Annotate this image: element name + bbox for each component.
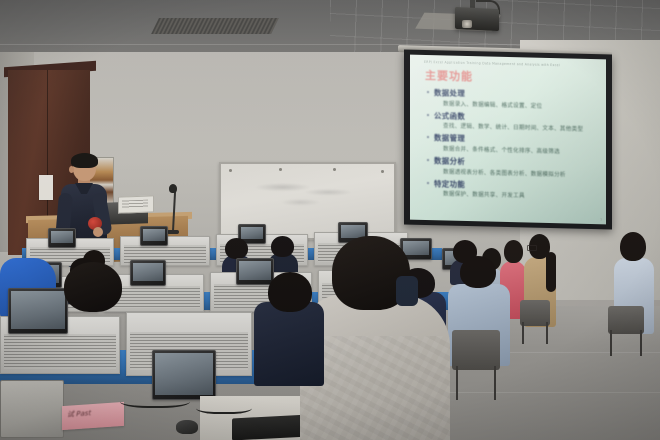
monitor	[8, 288, 68, 334]
whiteboard-clip	[333, 168, 336, 171]
monitor-screen	[11, 291, 65, 329]
chair-leg	[522, 322, 524, 344]
audience-member	[64, 262, 122, 318]
podium-card-text-lines	[122, 200, 148, 209]
whiteboard-clip	[279, 168, 282, 171]
podium-name-card	[118, 195, 154, 213]
person-hair-long	[546, 252, 556, 292]
monitor-screen	[133, 263, 163, 281]
person-head	[460, 256, 496, 288]
person-collar	[396, 276, 418, 306]
classroom-photo-scene: ERP/ Excel Application Training Data Man…	[0, 0, 660, 440]
slide-section: 数据分析 数据透视表分析、各类图表分析、数据模拟分析	[427, 155, 605, 179]
projector-lens-icon	[462, 20, 472, 28]
person-head	[620, 232, 646, 261]
chair-leg	[456, 366, 458, 400]
monitor-screen	[155, 353, 213, 395]
chair-leg	[640, 330, 642, 356]
chair-leg	[494, 366, 496, 400]
monitor	[48, 228, 76, 248]
ceiling-projector	[455, 7, 499, 31]
presenter-hair	[71, 153, 98, 168]
whiteboard-clip	[381, 170, 384, 173]
monitor	[130, 260, 166, 286]
slide-content: ERP/ Excel Application Training Data Man…	[410, 55, 606, 225]
presenter-hand	[93, 227, 103, 237]
monitor	[140, 226, 168, 246]
whiteboard-erased-marks	[245, 180, 371, 216]
wall-paper-note	[39, 175, 53, 200]
divider-louver	[4, 334, 116, 369]
slide-section: 公式函数 查找、逻辑、数学、统计、日期时间、文本、其他类型	[427, 110, 605, 134]
computer-tower	[0, 380, 64, 438]
slide-page-number: 1	[600, 217, 602, 221]
person-body	[254, 302, 324, 386]
person-head	[225, 238, 248, 259]
slide-section: 特定功能 数据保护、数据共享、开发工具	[427, 178, 605, 202]
monitor-screen	[143, 229, 165, 241]
desk-sticker-text: 试 Past	[67, 408, 91, 420]
person-head	[268, 272, 312, 312]
projection-screen: ERP/ Excel Application Training Data Man…	[410, 55, 606, 225]
whiteboard-clip	[229, 169, 232, 172]
person-head	[271, 236, 294, 257]
microphone-base	[167, 230, 179, 234]
monitor-screen	[51, 231, 73, 243]
slide-section: 数据处理 数据录入、数据编辑、格式设置、定位	[427, 87, 605, 111]
glasses-icon	[527, 245, 537, 251]
audience-member	[254, 272, 324, 382]
mouse	[176, 420, 198, 434]
presenter-ear	[69, 166, 74, 173]
slide-section: 数据管理 数据合并、条件格式、个性化排序、高级筛选	[427, 132, 605, 156]
desk-cable	[120, 392, 190, 408]
chair	[452, 330, 500, 370]
person-head	[64, 262, 122, 312]
chair-leg	[546, 322, 548, 344]
slide-bullet-list: 数据处理 数据录入、数据编辑、格式设置、定位 公式函数 查找、逻辑、数学、统计、…	[427, 87, 605, 205]
chair-leg	[610, 330, 612, 356]
microphone-icon	[169, 184, 177, 193]
desk-cable	[196, 400, 252, 414]
slide-title: 主要功能	[425, 67, 473, 84]
ceiling-vent-grille	[151, 18, 279, 34]
chair	[608, 306, 644, 334]
desk-sticker: 试 Past	[62, 402, 124, 430]
